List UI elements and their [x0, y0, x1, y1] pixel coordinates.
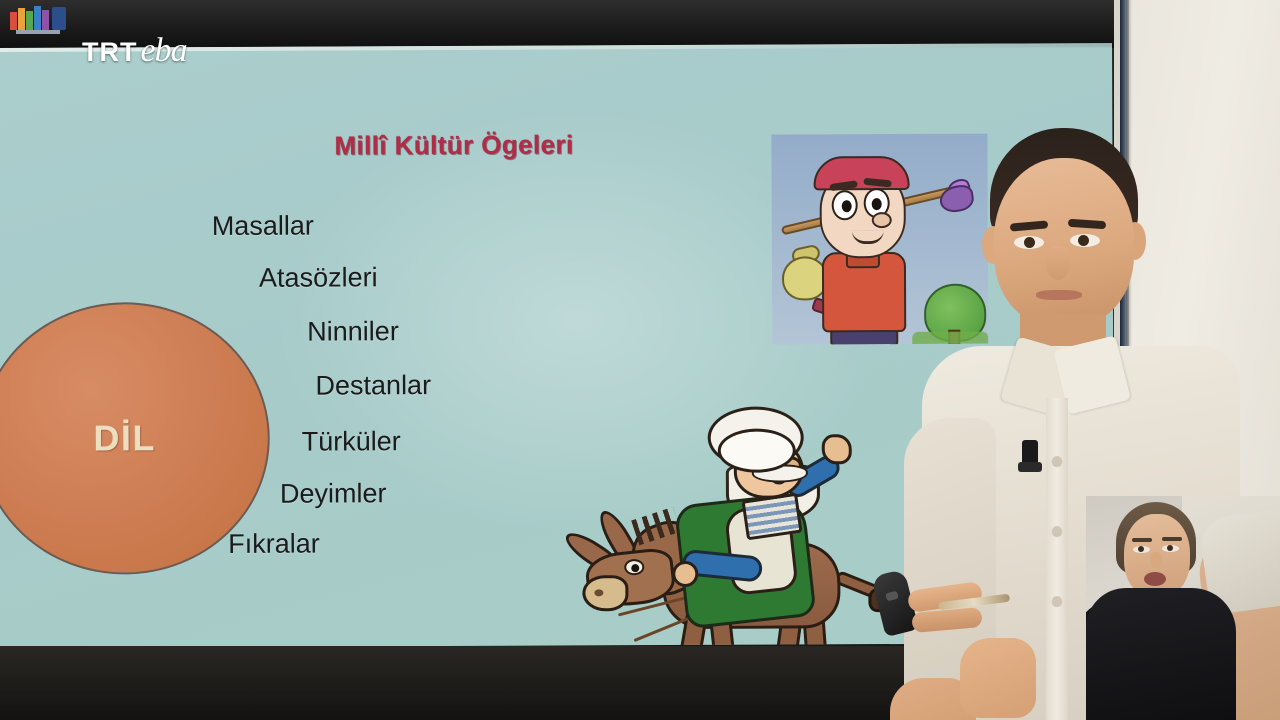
- mouth-shape: [1144, 572, 1166, 586]
- list-item: Fıkralar: [228, 529, 320, 560]
- donkey-muzzle-shape: [582, 575, 628, 611]
- eyebrow-shape: [1162, 537, 1182, 541]
- shirt-button-shape: [1052, 596, 1062, 606]
- interpreter-torso-shape: [1086, 588, 1236, 720]
- list-item: Masallar: [212, 211, 314, 242]
- pupil-shape: [1138, 546, 1144, 552]
- pupil-shape: [1167, 545, 1173, 551]
- meb-logo: [10, 4, 72, 34]
- video-frame: Millî Kültür Ögeleri DİL Masallar Atasöz…: [0, 0, 1280, 720]
- hodja-turban-inner-shape: [718, 428, 796, 472]
- pupil-shape: [872, 198, 882, 210]
- list-item: Atasözleri: [259, 262, 378, 294]
- donkey-nostril-shape: [594, 589, 603, 596]
- nose-shape: [1046, 246, 1070, 280]
- donkey-pupil-shape: [631, 564, 639, 572]
- nasreddin-hodja-on-donkey-illustration: [576, 402, 877, 648]
- pupil-shape: [1024, 237, 1035, 248]
- shirt-placket-shape: [1046, 398, 1068, 720]
- nose-shape: [872, 212, 892, 228]
- list-item: Türküler: [302, 426, 401, 457]
- trt-logo-text: TRT: [82, 37, 137, 68]
- eyebrow-shape: [1132, 538, 1152, 542]
- hodja-hand-shape: [822, 434, 852, 464]
- list-item: Destanlar: [315, 370, 431, 402]
- culture-items-list: Masallar Atasözleri Ninniler Destanlar T…: [0, 46, 509, 648]
- pupil-shape: [842, 200, 852, 212]
- list-item: Ninniler: [307, 316, 399, 347]
- channel-watermark: TRT eba: [82, 32, 187, 70]
- hodja-striped-sash-shape: [741, 493, 802, 541]
- mouth-shape: [1036, 290, 1082, 300]
- cap-shape: [813, 156, 909, 190]
- hodja-hand-shape: [672, 561, 698, 587]
- nose-shape: [1150, 552, 1162, 568]
- shirt-button-shape: [1052, 526, 1062, 536]
- pupil-shape: [1078, 235, 1089, 246]
- eba-logo-text: eba: [140, 32, 186, 70]
- list-item: Deyimler: [280, 478, 387, 509]
- sign-language-interpreter-inset: [1086, 496, 1280, 720]
- hand-shape: [960, 638, 1036, 718]
- shirt-button-shape: [1052, 456, 1062, 466]
- microphone-clip-shape: [1018, 462, 1042, 472]
